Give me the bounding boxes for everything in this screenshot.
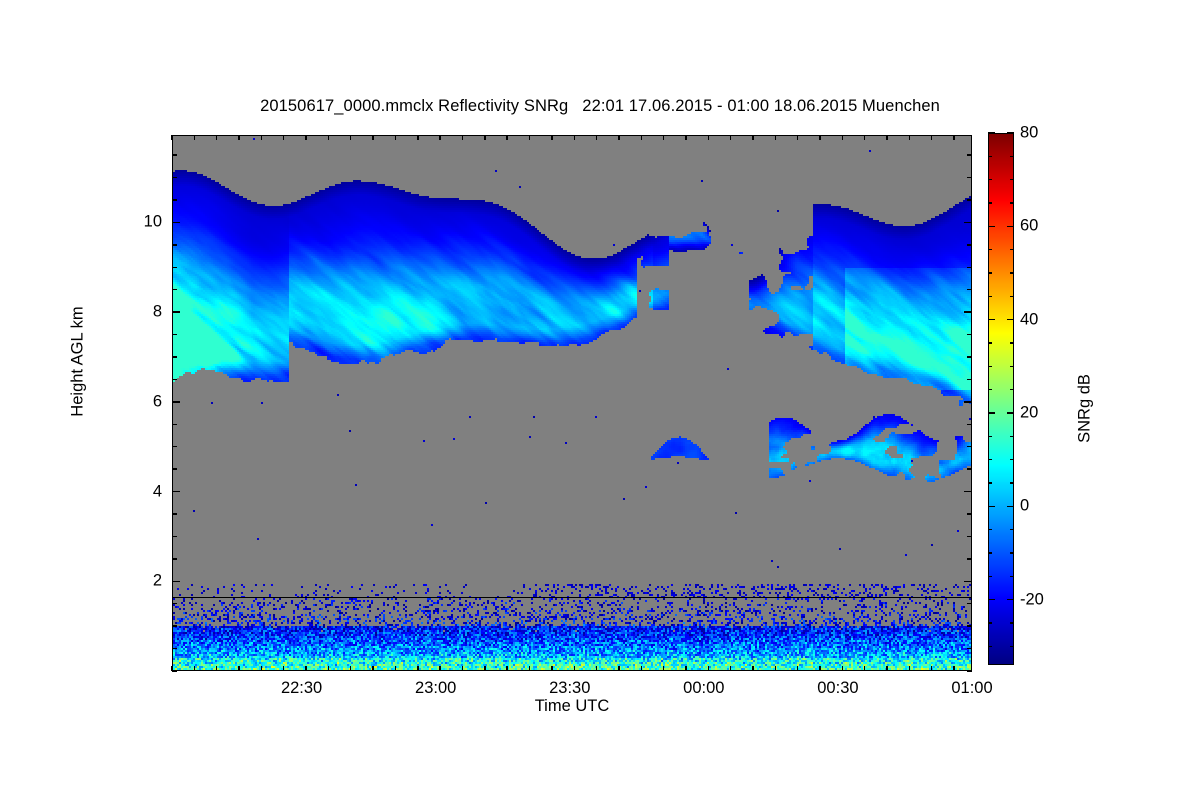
colorbar-major-tick-right [1007, 132, 1014, 133]
x-axis-minor-tick-top [730, 135, 731, 140]
x-axis-minor-tick-top [752, 135, 753, 140]
y-axis-minor-tick [172, 424, 177, 425]
colorbar-major-tick-right [1007, 599, 1014, 600]
y-axis-minor-tick-right [967, 267, 972, 268]
x-axis-minor-tick [529, 666, 530, 671]
y-axis-minor-tick [172, 379, 177, 380]
x-axis-minor-tick-top [953, 135, 954, 140]
x-axis-minor-tick [551, 666, 552, 671]
y-axis-minor-tick-right [967, 199, 972, 200]
y-axis-major-tick-right [964, 311, 972, 312]
melting-layer-line [173, 597, 972, 598]
x-axis-minor-tick [730, 666, 731, 671]
x-axis-minor-tick [842, 666, 843, 671]
x-axis-minor-tick [909, 666, 910, 671]
x-axis-minor-tick-top [238, 135, 239, 140]
colorbar-minor-tick [988, 529, 992, 530]
y-axis-minor-tick-right [967, 648, 972, 649]
x-axis-minor-tick-top [283, 135, 284, 140]
y-axis-minor-tick-right [967, 289, 972, 290]
x-axis-minor-tick-top [842, 135, 843, 140]
colorbar-minor-tick [988, 202, 992, 203]
x-axis-minor-tick [372, 666, 373, 671]
x-axis-minor-tick-top [372, 135, 373, 140]
x-axis-minor-tick-top [596, 135, 597, 140]
colorbar-major-tick-right [1007, 412, 1014, 413]
x-axis-minor-tick-top [797, 135, 798, 140]
colorbar-tick-label: 40 [1020, 310, 1038, 329]
x-axis-minor-tick [417, 666, 418, 671]
x-axis-minor-tick [350, 666, 351, 671]
x-axis-minor-tick-top [708, 135, 709, 140]
y-axis-minor-tick-right [967, 154, 972, 155]
colorbar-minor-tick-right [1010, 179, 1014, 180]
y-axis-major-tick [172, 401, 180, 402]
colorbar-minor-tick [988, 366, 992, 367]
colorbar-minor-tick [988, 179, 992, 180]
x-axis-minor-tick [305, 666, 306, 671]
x-axis-minor-tick-top [775, 135, 776, 140]
x-axis-minor-tick-top [574, 135, 575, 140]
colorbar-minor-tick-right [1010, 389, 1014, 390]
x-axis-minor-tick-top [506, 135, 507, 140]
y-axis-minor-tick [172, 670, 177, 671]
x-axis-minor-tick-top [395, 135, 396, 140]
y-axis-tick-label: 6 [124, 392, 162, 411]
colorbar-tick-label: 20 [1020, 404, 1038, 423]
colorbar-minor-tick [988, 646, 992, 647]
x-axis-minor-tick-top [663, 135, 664, 140]
y-axis-minor-tick [172, 536, 177, 537]
x-axis-minor-tick-top [216, 135, 217, 140]
colorbar-major-tick-right [1007, 319, 1014, 320]
colorbar-minor-tick-right [1010, 436, 1014, 437]
x-axis-minor-tick-top [909, 135, 910, 140]
x-axis-tick-label: 00:00 [683, 679, 724, 698]
colorbar-gradient [989, 134, 1013, 664]
y-axis-minor-tick [172, 289, 177, 290]
y-axis-minor-tick [172, 603, 177, 604]
x-axis-minor-tick [238, 666, 239, 671]
colorbar-major-tick [988, 226, 995, 227]
colorbar-minor-tick [988, 459, 992, 460]
y-axis-minor-tick [172, 468, 177, 469]
x-axis-minor-tick [685, 666, 686, 671]
y-axis-minor-tick-right [967, 446, 972, 447]
x-axis-minor-tick-top [886, 135, 887, 140]
colorbar-minor-tick-right [1010, 156, 1014, 157]
x-axis-minor-tick [194, 666, 195, 671]
colorbar-minor-tick [988, 296, 992, 297]
colorbar-major-tick [988, 599, 995, 600]
colorbar-minor-tick [988, 622, 992, 623]
x-axis-minor-tick-top [462, 135, 463, 140]
x-axis-minor-tick [596, 666, 597, 671]
x-axis-minor-tick [864, 666, 865, 671]
x-axis-minor-tick [819, 666, 820, 671]
y-axis-minor-tick-right [967, 244, 972, 245]
colorbar-minor-tick-right [1010, 552, 1014, 553]
colorbar-minor-tick [988, 272, 992, 273]
colorbar-minor-tick-right [1010, 576, 1014, 577]
x-axis-minor-tick-top [618, 135, 619, 140]
y-axis-major-tick [172, 581, 180, 582]
y-axis-tick-label: 4 [124, 482, 162, 501]
colorbar-minor-tick [988, 249, 992, 250]
x-axis-minor-tick [283, 666, 284, 671]
colorbar-tick-label: 60 [1020, 217, 1038, 236]
colorbar-minor-tick-right [1010, 272, 1014, 273]
colorbar-minor-tick-right [1010, 366, 1014, 367]
y-axis-minor-tick-right [967, 177, 972, 178]
y-axis-minor-tick-right [967, 424, 972, 425]
x-axis-minor-tick [261, 666, 262, 671]
x-axis-minor-tick-top [819, 135, 820, 140]
x-axis-minor-tick [886, 666, 887, 671]
x-axis-minor-tick [618, 666, 619, 671]
colorbar-minor-tick [988, 389, 992, 390]
y-axis-minor-tick [172, 177, 177, 178]
colorbar-tick-label: 0 [1020, 497, 1029, 516]
x-axis-minor-tick-top [551, 135, 552, 140]
colorbar-minor-tick [988, 482, 992, 483]
colorbar-minor-tick-right [1010, 646, 1014, 647]
y-axis-minor-tick [172, 267, 177, 268]
y-axis-tick-label: 10 [124, 213, 162, 232]
colorbar-minor-tick [988, 342, 992, 343]
y-axis-minor-tick [172, 334, 177, 335]
y-axis-minor-tick [172, 648, 177, 649]
y-axis-tick-label: 2 [124, 572, 162, 591]
colorbar-major-tick-right [1007, 226, 1014, 227]
x-axis-minor-tick-top [484, 135, 485, 140]
x-axis-minor-tick-top [171, 135, 172, 140]
x-axis-minor-tick [574, 666, 575, 671]
x-axis-minor-tick [663, 666, 664, 671]
x-axis-minor-tick-top [261, 135, 262, 140]
x-axis-tick-label: 23:30 [549, 679, 590, 698]
x-axis-minor-tick [708, 666, 709, 671]
x-axis-minor-tick [775, 666, 776, 671]
colorbar-minor-tick-right [1010, 249, 1014, 250]
x-axis-minor-tick-top [305, 135, 306, 140]
colorbar-major-tick [988, 132, 995, 133]
x-axis-minor-tick [931, 666, 932, 671]
y-axis-minor-tick-right [967, 379, 972, 380]
y-axis-major-tick-right [964, 222, 972, 223]
x-axis-minor-tick-top [931, 135, 932, 140]
x-axis-minor-tick [462, 666, 463, 671]
y-axis-minor-tick-right [967, 334, 972, 335]
y-axis-minor-tick [172, 513, 177, 514]
colorbar-minor-tick-right [1010, 529, 1014, 530]
colorbar-minor-tick-right [1010, 296, 1014, 297]
x-axis-minor-tick [328, 666, 329, 671]
colorbar-major-tick [988, 506, 995, 507]
colorbar-minor-tick-right [1010, 202, 1014, 203]
colorbar-tick-label: -20 [1020, 590, 1044, 609]
x-axis-minor-tick [439, 666, 440, 671]
x-axis-minor-tick-top [417, 135, 418, 140]
y-axis-minor-tick [172, 558, 177, 559]
y-axis-minor-tick-right [967, 670, 972, 671]
x-axis-minor-tick-top [864, 135, 865, 140]
x-axis-tick-label: 23:00 [415, 679, 456, 698]
x-axis-tick-label: 22:30 [281, 679, 322, 698]
x-axis-minor-tick-top [641, 135, 642, 140]
y-axis-minor-tick-right [967, 625, 972, 626]
x-axis-minor-tick [484, 666, 485, 671]
x-axis-minor-tick-top [328, 135, 329, 140]
y-axis-minor-tick-right [967, 468, 972, 469]
colorbar [988, 133, 1014, 665]
y-axis-minor-tick-right [967, 558, 972, 559]
reflectivity-heatmap [173, 136, 972, 671]
y-axis-tick-label: 8 [124, 303, 162, 322]
y-axis-major-tick [172, 222, 180, 223]
x-axis-minor-tick [216, 666, 217, 671]
x-axis-minor-tick [797, 666, 798, 671]
x-axis-minor-tick-top [194, 135, 195, 140]
x-axis-minor-tick [641, 666, 642, 671]
colorbar-label: SNRg dB [1076, 299, 1095, 519]
colorbar-minor-tick [988, 156, 992, 157]
y-axis-minor-tick [172, 199, 177, 200]
y-axis-minor-tick-right [967, 356, 972, 357]
x-axis-tick-label: 00:30 [817, 679, 858, 698]
y-axis-minor-tick-right [967, 536, 972, 537]
radar-figure: 20150617_0000.mmclx Reflectivity SNRg 22… [0, 0, 1200, 800]
x-axis-minor-tick [752, 666, 753, 671]
colorbar-minor-tick [988, 576, 992, 577]
colorbar-minor-tick-right [1010, 342, 1014, 343]
y-axis-minor-tick [172, 154, 177, 155]
y-axis-major-tick [172, 311, 180, 312]
y-axis-major-tick [172, 491, 180, 492]
y-axis-major-tick-right [964, 581, 972, 582]
x-axis-minor-tick [395, 666, 396, 671]
x-axis-minor-tick-top [529, 135, 530, 140]
y-axis-label: Height AGL km [69, 232, 88, 492]
x-axis-minor-tick-top [350, 135, 351, 140]
colorbar-tick-label: 80 [1020, 124, 1038, 143]
x-axis-label: Time UTC [172, 697, 972, 716]
colorbar-minor-tick [988, 436, 992, 437]
y-axis-minor-tick-right [967, 603, 972, 604]
y-axis-minor-tick [172, 244, 177, 245]
x-axis-minor-tick-top [685, 135, 686, 140]
x-axis-tick-label: 01:00 [951, 679, 992, 698]
colorbar-major-tick [988, 412, 995, 413]
y-axis-major-tick-right [964, 491, 972, 492]
y-axis-minor-tick [172, 446, 177, 447]
y-axis-major-tick-right [964, 401, 972, 402]
colorbar-major-tick-right [1007, 506, 1014, 507]
colorbar-minor-tick [988, 552, 992, 553]
y-axis-minor-tick [172, 625, 177, 626]
colorbar-minor-tick-right [1010, 459, 1014, 460]
colorbar-minor-tick-right [1010, 482, 1014, 483]
x-axis-minor-tick [953, 666, 954, 671]
radar-plot-area [172, 135, 972, 671]
x-axis-minor-tick-top [439, 135, 440, 140]
x-axis-minor-tick [506, 666, 507, 671]
y-axis-minor-tick [172, 356, 177, 357]
colorbar-major-tick [988, 319, 995, 320]
page-title: 20150617_0000.mmclx Reflectivity SNRg 22… [0, 97, 1200, 116]
colorbar-minor-tick-right [1010, 622, 1014, 623]
y-axis-minor-tick-right [967, 513, 972, 514]
